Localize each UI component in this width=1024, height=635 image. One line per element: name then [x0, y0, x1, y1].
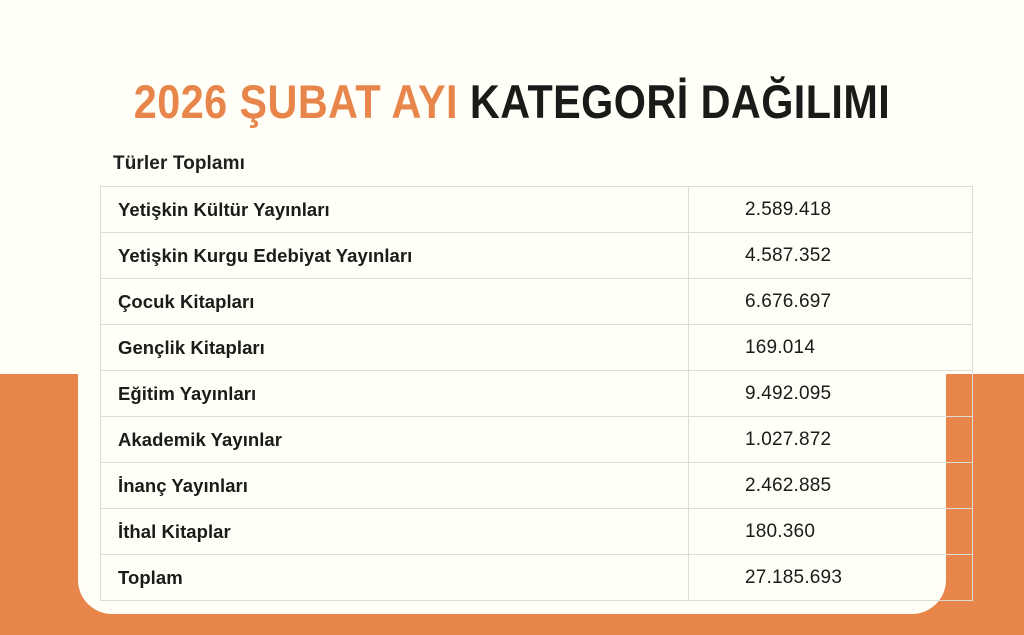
- row-category: Akademik Yayınlar: [101, 417, 689, 463]
- row-value: 2.462.885: [689, 463, 973, 509]
- row-category: Eğitim Yayınları: [101, 371, 689, 417]
- row-value: 180.360: [689, 509, 973, 555]
- table-row: Eğitim Yayınları 9.492.095: [101, 371, 973, 417]
- row-value: 4.587.352: [689, 233, 973, 279]
- row-category: Yetişkin Kurgu Edebiyat Yayınları: [101, 233, 689, 279]
- page-title: 2026 ŞUBAT AYI KATEGORİ DAĞILIMI: [61, 78, 962, 125]
- category-distribution-table: Yetişkin Kültür Yayınları 2.589.418 Yeti…: [100, 186, 973, 601]
- table-row: İthal Kitaplar 180.360: [101, 509, 973, 555]
- table-row: Çocuk Kitapları 6.676.697: [101, 279, 973, 325]
- table-row: Akademik Yayınlar 1.027.872: [101, 417, 973, 463]
- table-row-total: Toplam 27.185.693: [101, 555, 973, 601]
- accent-strip-bottom: [0, 613, 1024, 635]
- page-title-rest: KATEGORİ DAĞILIMI: [470, 75, 890, 128]
- row-value: 9.492.095: [689, 371, 973, 417]
- page-title-highlight: 2026 ŞUBAT AYI: [134, 75, 458, 128]
- row-category: Toplam: [101, 555, 689, 601]
- table-row: İnanç Yayınları 2.462.885: [101, 463, 973, 509]
- row-category: İthal Kitaplar: [101, 509, 689, 555]
- row-category: Gençlik Kitapları: [101, 325, 689, 371]
- row-value: 27.185.693: [689, 555, 973, 601]
- row-value: 1.027.872: [689, 417, 973, 463]
- row-value: 2.589.418: [689, 187, 973, 233]
- row-category: Yetişkin Kültür Yayınları: [101, 187, 689, 233]
- table-row: Yetişkin Kurgu Edebiyat Yayınları 4.587.…: [101, 233, 973, 279]
- poster-canvas: 2026 ŞUBAT AYI KATEGORİ DAĞILIMI Türler …: [0, 0, 1024, 635]
- table-caption: Türler Toplamı: [113, 153, 245, 175]
- table-body: Yetişkin Kültür Yayınları 2.589.418 Yeti…: [101, 187, 973, 601]
- row-value: 169.014: [689, 325, 973, 371]
- row-category: Çocuk Kitapları: [101, 279, 689, 325]
- row-value: 6.676.697: [689, 279, 973, 325]
- table-row: Yetişkin Kültür Yayınları 2.589.418: [101, 187, 973, 233]
- table-row: Gençlik Kitapları 169.014: [101, 325, 973, 371]
- row-category: İnanç Yayınları: [101, 463, 689, 509]
